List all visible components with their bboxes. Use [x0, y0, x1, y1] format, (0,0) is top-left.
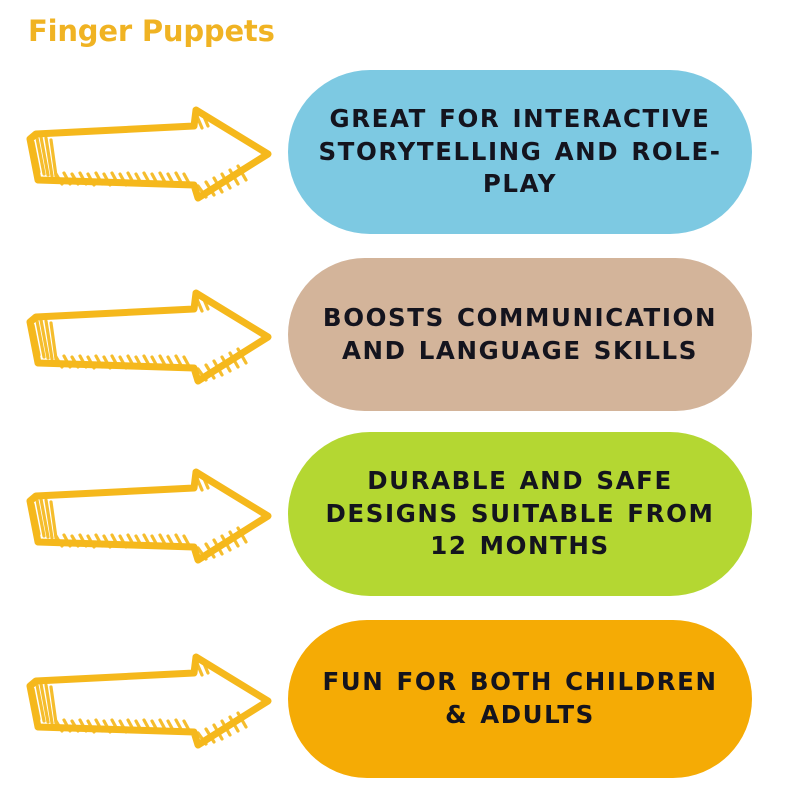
hand-drawn-right-arrow-icon [18, 464, 276, 564]
finger-puppets-infographic: Finger Puppets [0, 0, 800, 800]
arrow-cell-1 [18, 102, 286, 202]
arrow-cell-4 [18, 649, 286, 749]
benefit-pill-2: Boosts communication and language skills [288, 258, 752, 411]
hand-drawn-right-arrow-icon [18, 102, 276, 202]
arrow-cell-3 [18, 464, 286, 564]
benefit-text-2: Boosts communication and language skills [314, 302, 726, 367]
arrow-cell-2 [18, 285, 286, 385]
benefit-pill-4: Fun for both children & adults [288, 620, 752, 778]
benefit-text-4: Fun for both children & adults [314, 666, 726, 731]
benefit-text-3: Durable and safe designs suitable from 1… [314, 465, 726, 563]
page-title: Finger Puppets [28, 14, 275, 48]
benefit-text-1: Great for interactive storytelling and r… [314, 103, 726, 201]
benefit-pill-1: Great for interactive storytelling and r… [288, 70, 752, 234]
benefit-pill-3: Durable and safe designs suitable from 1… [288, 432, 752, 596]
hand-drawn-right-arrow-icon [18, 649, 276, 749]
hand-drawn-right-arrow-icon [18, 285, 276, 385]
